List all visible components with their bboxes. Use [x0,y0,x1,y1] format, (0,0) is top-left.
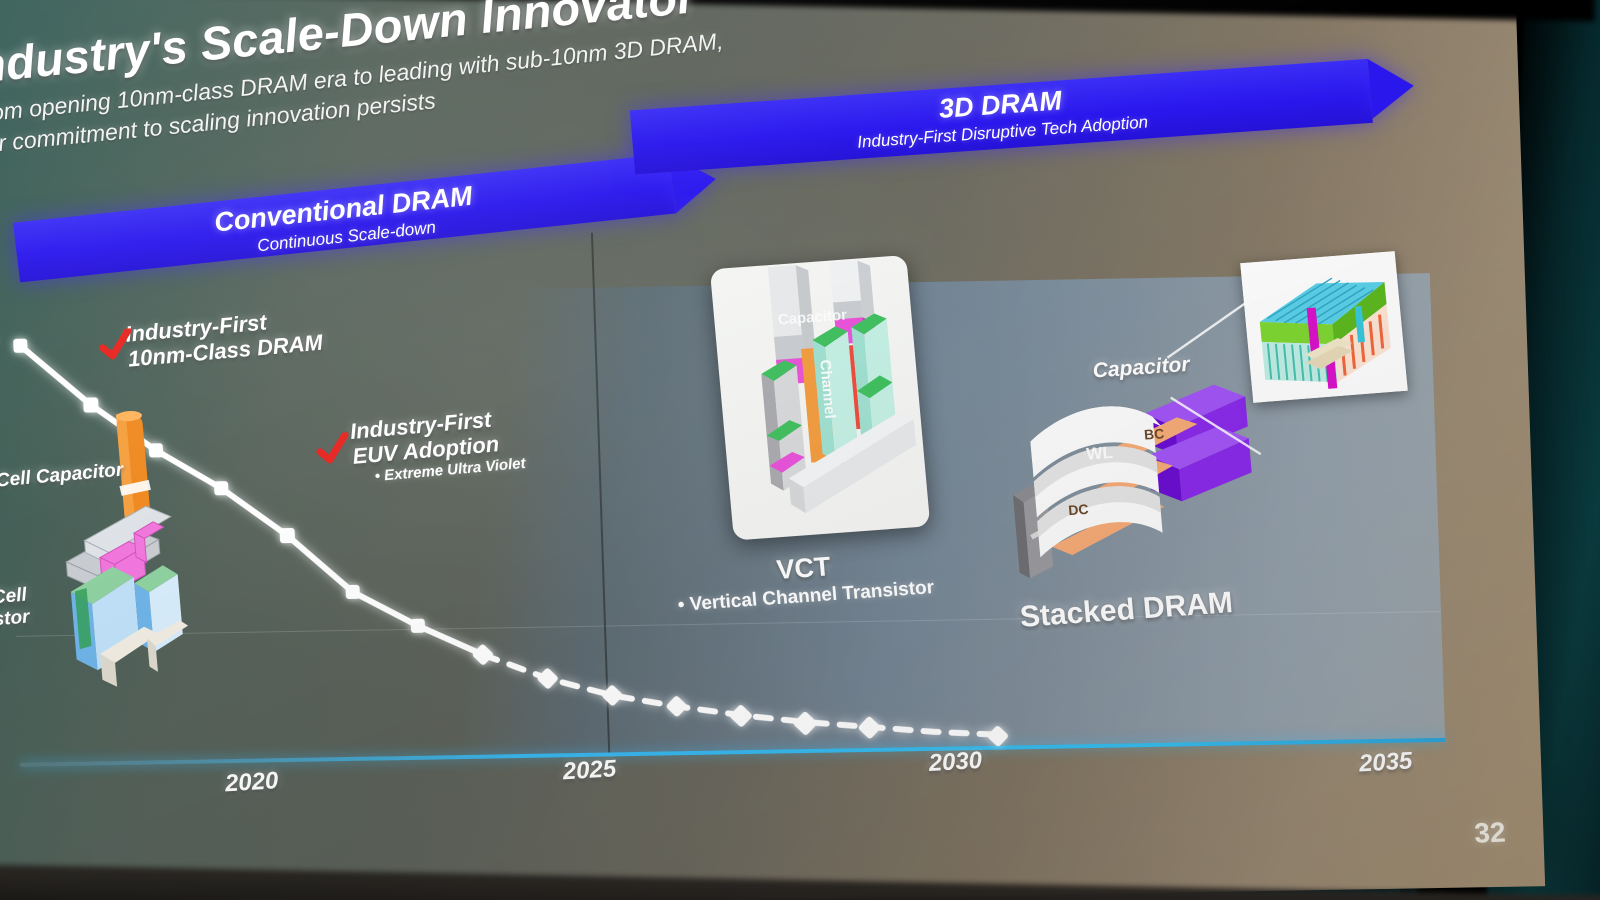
x-tick-2020: 2020 [224,767,279,798]
check-icon [314,432,351,469]
check-icon [97,328,134,365]
conventional-cell-illustration [21,400,224,692]
curve-markers-dashed [471,634,1009,756]
stacked-dc-text: DC [1068,501,1090,518]
label-cell-transistor: Cell nsistor [0,584,31,631]
vct-svg: Capacitor Channel [710,255,931,541]
x-tick-2030: 2030 [928,747,983,778]
page-number: 32 [1473,816,1506,849]
stacked-wl-text: WL [1086,443,1114,464]
dram-cell-svg [21,400,224,692]
slide-photo: Industry's Scale-Down Innovator From ope… [0,0,1600,900]
x-tick-2025: 2025 [562,755,617,786]
projection-screen: Industry's Scale-Down Innovator From ope… [0,0,1545,900]
inset-leader-lines [1145,275,1314,538]
curve-dashed-segment [483,646,998,744]
x-tick-2035: 2035 [1358,747,1413,778]
vct-illustration-card: Capacitor Channel [710,255,931,541]
label-cell-transistor-line1: Cell [0,584,28,609]
